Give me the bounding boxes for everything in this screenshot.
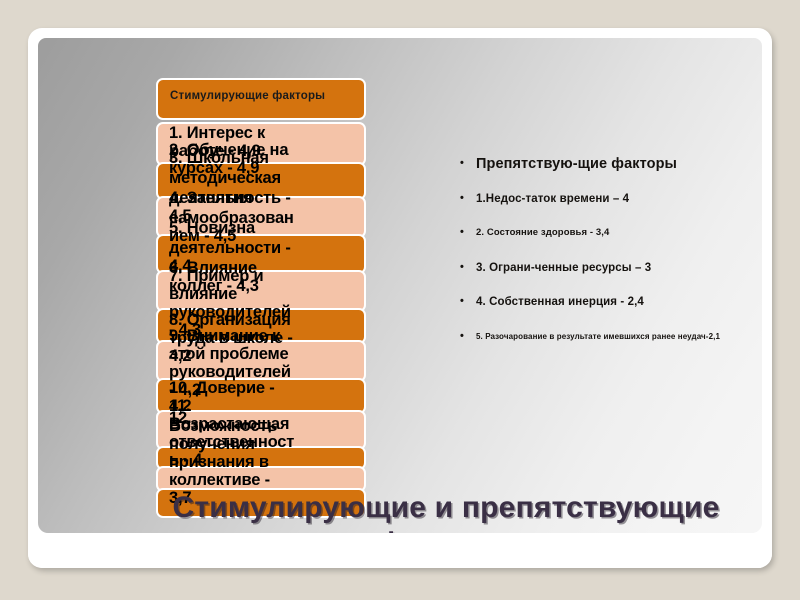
obstacle-item-3: 3. Ограни-ченные ресурсы – 3 (458, 260, 762, 276)
obstacles-heading: Препятствую-щие факторы (458, 156, 762, 172)
slide-title: Стимулирующие и препятствующие факторы (158, 490, 734, 533)
obstacle-item-4: 4. Собственная инерция - 2,4 (458, 294, 762, 310)
chart-label-line: 4. Занятия (169, 188, 387, 209)
obstacle-item-2: 2. Состояние здоровья - 3,4 (458, 225, 762, 241)
chart-label-line: 5. Новизна (169, 218, 387, 239)
chart-title-label: Стимулирующие факторы (170, 90, 366, 103)
obstacle-item-5: 5. Разочарование в результате имевшихся … (458, 329, 762, 345)
obstacle-item-1: 1.Недос-таток времени – 4 (458, 191, 762, 207)
chart-label-line: методическая (169, 168, 387, 189)
slide-footer-area (28, 533, 772, 568)
obstacles-list: Препятствую-щие факторы 1.Недос-таток вр… (458, 156, 762, 345)
slide-canvas: Стимулирующие факторы 1. Интерес к работ… (38, 38, 762, 533)
slide-frame: Стимулирующие факторы 1. Интерес к работ… (28, 28, 772, 568)
chart-label-line: 3. Школьная (169, 148, 387, 169)
